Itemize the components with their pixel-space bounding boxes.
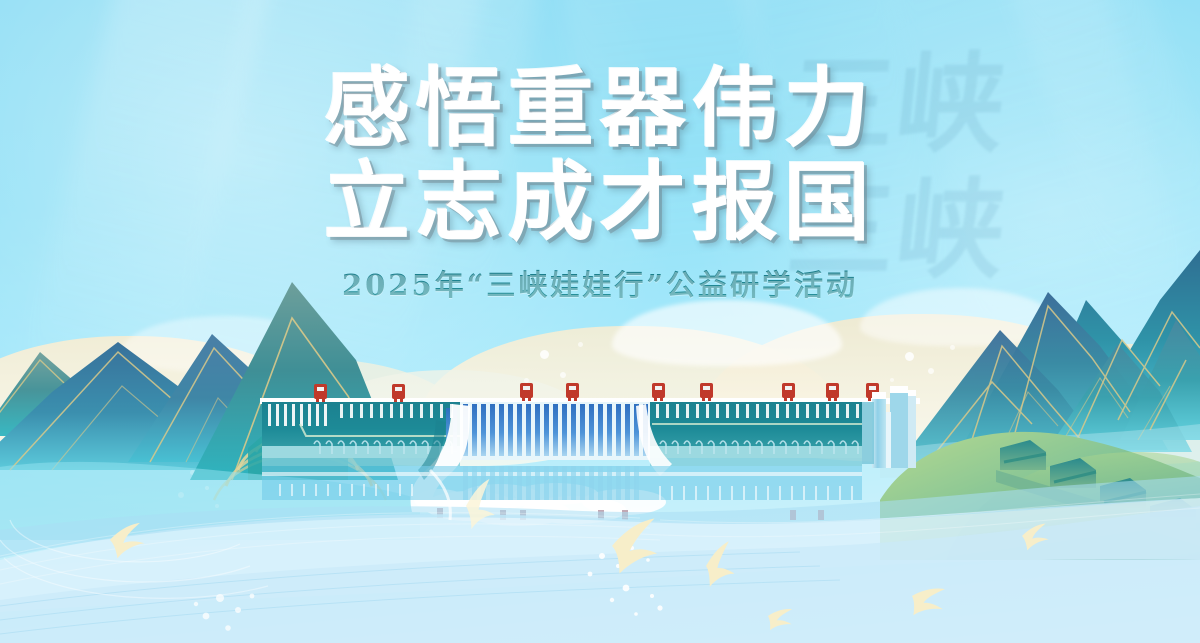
- title-line-1: 感悟重器伟力: [0, 62, 1200, 156]
- title-block: 感悟重器伟力 立志成才报国 2025年“三峡娃娃行”公益研学活动: [0, 62, 1200, 304]
- poster-canvas: 三峡 三峡: [0, 0, 1200, 643]
- poster-subtitle: 2025年“三峡娃娃行”公益研学活动: [0, 262, 1200, 304]
- dam-spillway-center: [446, 402, 650, 460]
- title-line-2: 立志成才报国: [0, 156, 1200, 250]
- river-water: [0, 466, 1200, 643]
